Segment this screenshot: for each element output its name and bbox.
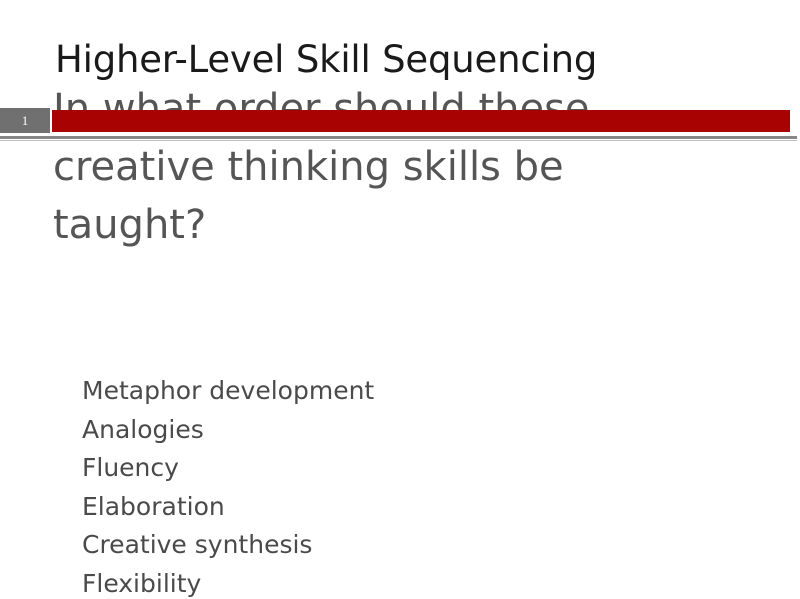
slide-number-label: 1 xyxy=(0,108,50,133)
header-decoration-band: 1 xyxy=(0,108,800,142)
list-item: Metaphor development xyxy=(82,372,582,411)
accent-bar xyxy=(52,110,790,132)
presentation-slide: Higher-Level Skill Sequencing In what or… xyxy=(0,0,800,599)
slide-number-badge: 1 xyxy=(0,108,50,133)
skills-list: Metaphor development Analogies Fluency E… xyxy=(82,372,582,599)
list-item: Creative synthesis xyxy=(82,526,582,565)
list-item: Analogies xyxy=(82,411,582,450)
horizontal-rule-thick xyxy=(0,136,797,139)
horizontal-rule-thin xyxy=(0,140,797,141)
slide-question-text: In what order should these creative thin… xyxy=(53,80,613,254)
page-title: Higher-Level Skill Sequencing xyxy=(55,38,755,82)
list-item: Fluency xyxy=(82,449,582,488)
list-item: Flexibility xyxy=(82,565,582,599)
list-item: Elaboration xyxy=(82,488,582,527)
